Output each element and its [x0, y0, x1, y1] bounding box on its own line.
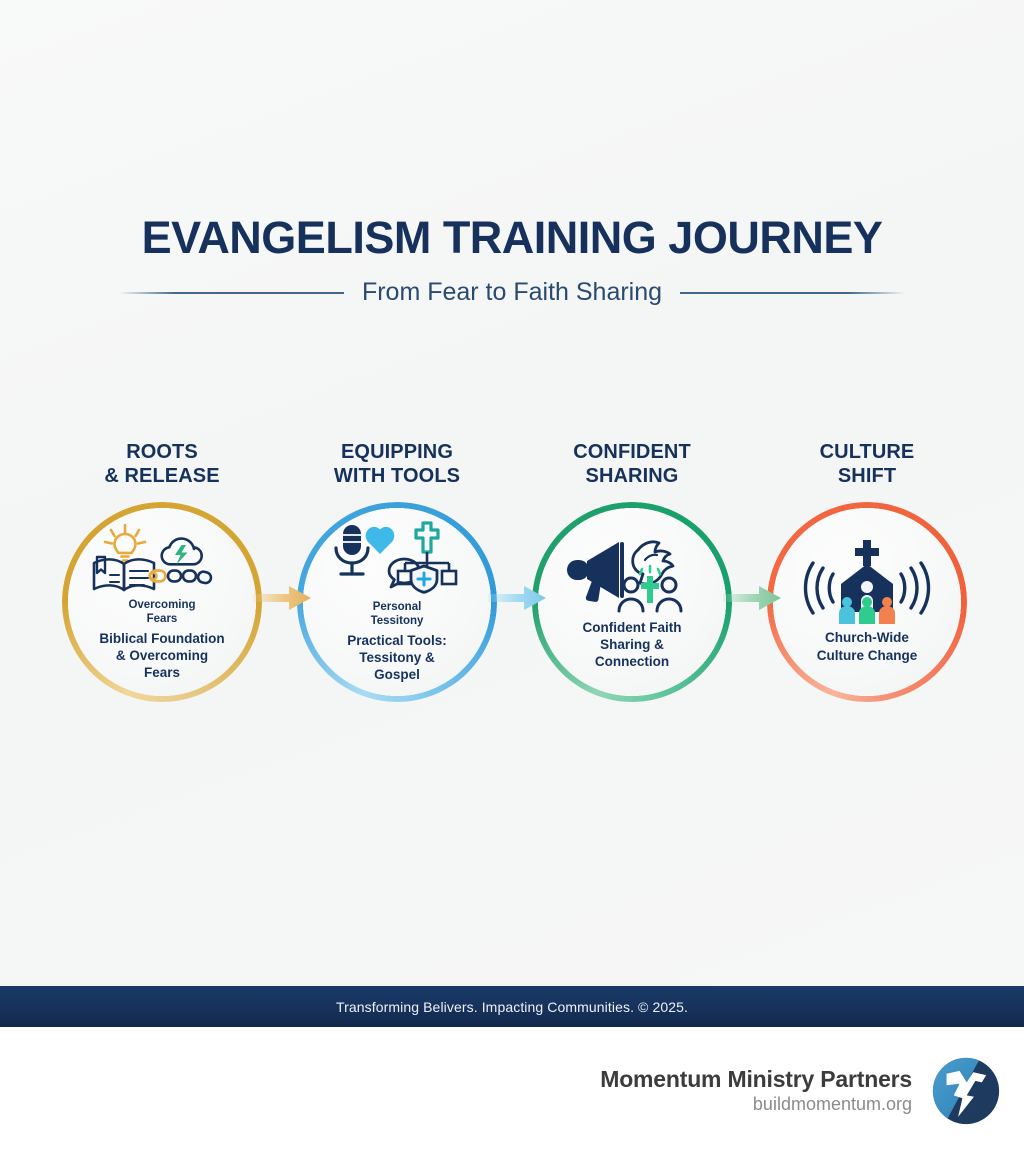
- stage-circle[interactable]: Overcoming Fears Biblical Foundation & O…: [62, 502, 262, 702]
- stage-content: Overcoming Fears Biblical Foundation & O…: [68, 508, 256, 696]
- page-subtitle: From Fear to Faith Sharing: [362, 278, 662, 307]
- congregation-icon: [839, 597, 895, 624]
- stage-circle[interactable]: Confident Faith Sharing & Connection: [532, 502, 732, 702]
- arrow-right-icon: [253, 581, 313, 615]
- stage-circle[interactable]: Personal Tessitony Practical Tools: Tess…: [297, 502, 497, 702]
- header-block: EVANGELISM TRAINING JOURNEY From Fear to…: [0, 214, 1024, 307]
- stage-content: Confident Faith Sharing & Connection: [538, 508, 726, 696]
- subtitle-rule-left: [119, 292, 344, 294]
- page-title: EVANGELISM TRAINING JOURNEY: [0, 214, 1024, 261]
- chain-link-icon: [150, 570, 213, 584]
- brand-url[interactable]: buildmomentum.org: [600, 1094, 912, 1115]
- church-icon: [802, 540, 932, 624]
- stage-caption: Biblical Foundation & Overcoming Fears: [85, 630, 238, 682]
- momentum-logo-icon: [930, 1055, 1002, 1127]
- subtitle-rule-right: [680, 292, 905, 294]
- stage-mini-label: Overcoming Fears: [128, 598, 195, 626]
- heart-icon: [366, 526, 395, 553]
- stage-confident-sharing[interactable]: CONFIDENT SHARING: [527, 440, 737, 702]
- stage-row: ROOTS & RELEASE: [0, 440, 1024, 700]
- arrow-right-icon: [488, 581, 548, 615]
- brand-text-block: Momentum Ministry Partners buildmomentum…: [600, 1066, 912, 1115]
- arrow-stage2-to-stage3: [488, 581, 548, 615]
- megaphone-icon: [567, 542, 622, 602]
- stage-label: CONFIDENT SHARING: [527, 440, 737, 492]
- megaphone-icon: [559, 534, 705, 614]
- stage-label: EQUIPPING WITH TOOLS: [292, 440, 502, 492]
- microphone-icon: [327, 521, 467, 599]
- poster-canvas: EVANGELISM TRAINING JOURNEY From Fear to…: [0, 0, 1024, 986]
- arrow-stage1-to-stage2: [253, 581, 313, 615]
- open-book-icon: [86, 523, 238, 597]
- stage-equipping-with-tools[interactable]: EQUIPPING WITH TOOLS: [292, 440, 502, 702]
- arrow-right-icon: [723, 581, 783, 615]
- stage-caption: Practical Tools: Tessitony & Gospel: [333, 632, 461, 684]
- stage-caption: Church-Wide Culture Change: [803, 629, 932, 664]
- brand-name: Momentum Ministry Partners: [600, 1066, 912, 1092]
- storm-cloud-icon: [162, 538, 202, 564]
- footer-tagline: Transforming Belivers. Impacting Communi…: [336, 999, 688, 1015]
- stage-content: Church-Wide Culture Change: [773, 508, 961, 696]
- subtitle-row: From Fear to Faith Sharing: [0, 278, 1024, 307]
- microphone-icon: [336, 525, 368, 574]
- stage-circle[interactable]: Church-Wide Culture Change: [767, 502, 967, 702]
- people-with-cross-icon: [619, 566, 681, 611]
- arrow-stage3-to-stage4: [723, 581, 783, 615]
- stage-mini-label: Personal Tessitony: [371, 600, 424, 628]
- stage-label: CULTURE SHIFT: [762, 440, 972, 492]
- infographic-poster: EVANGELISM TRAINING JOURNEY From Fear to…: [0, 0, 1024, 1154]
- stage-culture-shift[interactable]: CULTURE SHIFT: [762, 440, 972, 702]
- footer-tagline-bar: Transforming Belivers. Impacting Communi…: [0, 986, 1024, 1027]
- brand-footer: Momentum Ministry Partners buildmomentum…: [0, 1027, 1024, 1154]
- stage-content: Personal Tessitony Practical Tools: Tess…: [303, 508, 491, 696]
- stage-caption: Confident Faith Sharing & Connection: [569, 619, 696, 671]
- stage-label: ROOTS & RELEASE: [57, 440, 267, 492]
- stage-roots-and-release[interactable]: ROOTS & RELEASE: [57, 440, 267, 702]
